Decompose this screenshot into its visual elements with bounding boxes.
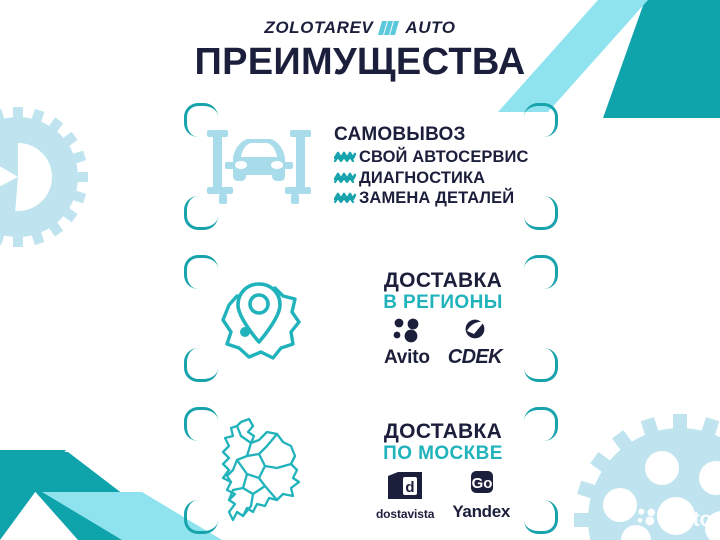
card-text-slot: САМОВЫВОЗ СВОЙ АВТОСЕРВИС bbox=[334, 124, 558, 210]
partner-logo-dostavista: d dostavista bbox=[376, 469, 434, 520]
zigzag-bullet-icon bbox=[334, 188, 356, 209]
card-subtitle: ПО МОСКВЕ bbox=[334, 444, 552, 465]
benefits-list: САМОВЫВОЗ СВОЙ АВТОСЕРВИС bbox=[184, 103, 558, 534]
moscow-map-icon bbox=[207, 416, 311, 526]
benefit-card-regions-delivery[interactable]: ДОСТАВКА В РЕГИОНЫ bbox=[184, 255, 558, 382]
card-icon-slot bbox=[184, 416, 334, 526]
header: ZOLOTAREV AUTO ПРЕИМУЩЕСТВА bbox=[0, 0, 720, 81]
list-item: ЗАМЕНА ДЕТАЛЕЙ bbox=[334, 188, 552, 209]
avito-watermark: Avito bbox=[635, 508, 712, 531]
card-title: ДОСТАВКА bbox=[334, 270, 552, 293]
advertisement-image: ZOLOTAREV AUTO ПРЕИМУЩЕСТВА bbox=[0, 0, 720, 540]
card-subtitle: В РЕГИОНЫ bbox=[334, 293, 552, 314]
region-map-pin-icon bbox=[209, 272, 309, 366]
avito-dots-icon bbox=[635, 508, 659, 531]
list-item: ДИАГНОСТИКА bbox=[334, 168, 552, 189]
partner-logo-yandex-go: Go Yandex bbox=[452, 469, 510, 520]
list-item: СВОЙ АВТОСЕРВИС bbox=[334, 147, 552, 168]
triple-slash-icon bbox=[378, 21, 400, 35]
page-title: ПРЕИМУЩЕСТВА bbox=[0, 43, 720, 81]
yandex-go-badge-label: Go bbox=[472, 475, 493, 492]
brand-logo: ZOLOTAREV AUTO bbox=[0, 19, 720, 36]
zigzag-bullet-icon bbox=[334, 147, 356, 168]
partner-logo-label: dostavista bbox=[376, 508, 434, 520]
feature-label: ЗАМЕНА ДЕТАЛЕЙ bbox=[359, 188, 514, 209]
partner-logo-label: CDEK bbox=[448, 347, 502, 367]
avito-watermark-label: Avito bbox=[662, 509, 712, 530]
feature-list: СВОЙ АВТОСЕРВИС ДИАГНОСТИКА bbox=[334, 147, 552, 210]
left-gear-tooth-ring-icon bbox=[0, 107, 88, 247]
partner-logos: Avito CDEK bbox=[334, 318, 552, 367]
partner-logo-label: Avito bbox=[384, 348, 430, 367]
left-gear-spokes-icon bbox=[0, 128, 18, 226]
partner-logo-avito: Avito bbox=[384, 318, 430, 367]
card-text-slot: ДОСТАВКА ПО МОСКВЕ bbox=[334, 421, 558, 520]
partner-logo-cdek: CDEK bbox=[448, 319, 502, 367]
card-icon-slot bbox=[184, 124, 334, 210]
card-text-slot: ДОСТАВКА В РЕГИОНЫ bbox=[334, 270, 558, 367]
partner-logo-label: Yandex bbox=[452, 503, 510, 520]
avito-dots-icon bbox=[390, 318, 424, 348]
svg-text:d: d bbox=[406, 479, 415, 496]
cdek-swoosh-icon bbox=[461, 319, 489, 347]
card-title: САМОВЫВОЗ bbox=[334, 124, 552, 146]
car-on-lift-icon bbox=[205, 124, 313, 210]
feature-label: СВОЙ АВТОСЕРВИС bbox=[359, 147, 529, 168]
zigzag-bullet-icon bbox=[334, 168, 356, 189]
left-gear-icon bbox=[0, 117, 80, 237]
card-title: ДОСТАВКА bbox=[334, 421, 552, 444]
benefit-card-pickup[interactable]: САМОВЫВОЗ СВОЙ АВТОСЕРВИС bbox=[184, 103, 558, 230]
benefit-card-moscow-delivery[interactable]: ДОСТАВКА ПО МОСКВЕ bbox=[184, 407, 558, 534]
card-icon-slot bbox=[184, 272, 334, 366]
partner-logos: d dostavista Go Yandex bbox=[334, 469, 552, 520]
brand-name-left: ZOLOTAREV bbox=[264, 19, 373, 36]
feature-label: ДИАГНОСТИКА bbox=[359, 168, 485, 189]
yandex-go-icon: Go bbox=[464, 469, 498, 504]
brand-name-right: AUTO bbox=[405, 19, 455, 36]
dostavista-box-icon: d bbox=[384, 469, 426, 506]
